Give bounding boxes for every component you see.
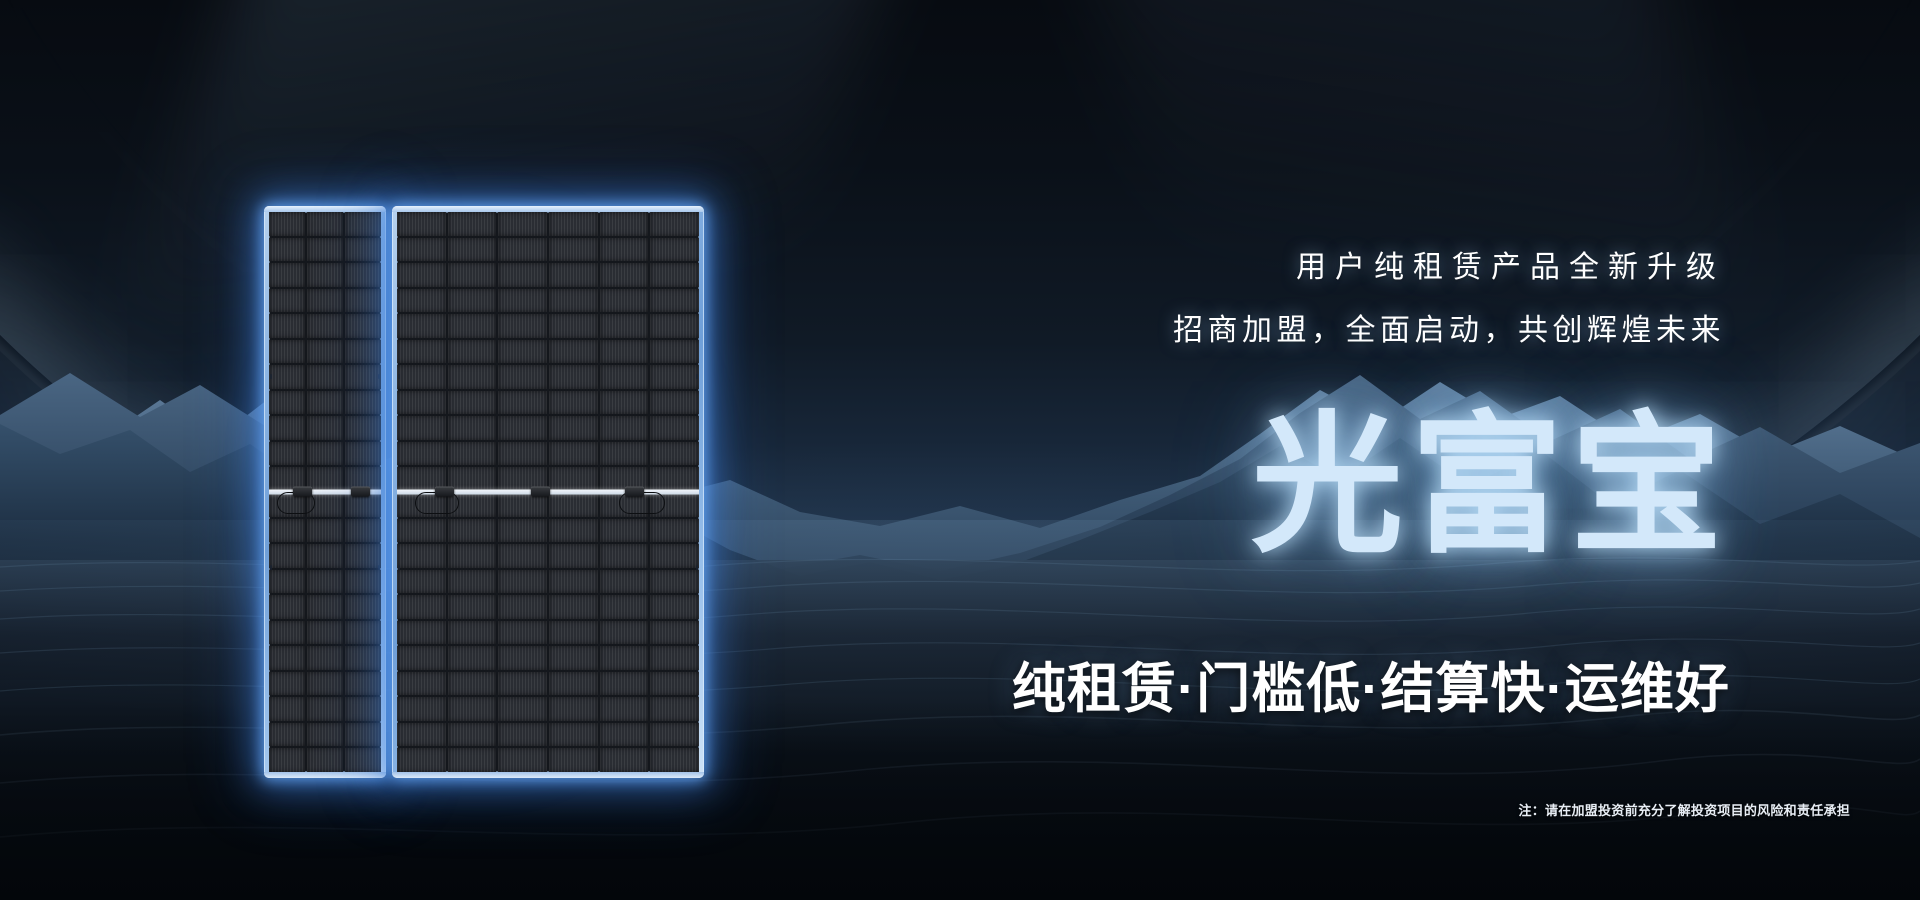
brand-wordmark: 光富宝 (1251, 410, 1730, 562)
hero-banner: 用户纯租赁产品全新升级 招商加盟，全面启动，共创辉煌未来 光富宝 纯租赁·门槛低… (0, 0, 1920, 900)
junction-box (351, 487, 370, 497)
junction-box (293, 487, 312, 497)
junction-box (531, 487, 550, 497)
junction-box (435, 487, 454, 497)
subheadline: 招商加盟，全面启动，共创辉煌未来 (1173, 316, 1725, 346)
legal-disclaimer: 注：请在加盟投资前充分了解投资项目的风险和责任承担 (1518, 800, 1850, 819)
tagline: 纯租赁·门槛低·结算快·运维好 (1012, 662, 1730, 716)
copy-block: 用户纯租赁产品全新升级 招商加盟，全面启动，共创辉煌未来 光富宝 纯租赁·门槛低… (0, 0, 1920, 900)
headline: 用户纯租赁产品全新升级 (1296, 253, 1725, 283)
junction-box (625, 487, 644, 497)
